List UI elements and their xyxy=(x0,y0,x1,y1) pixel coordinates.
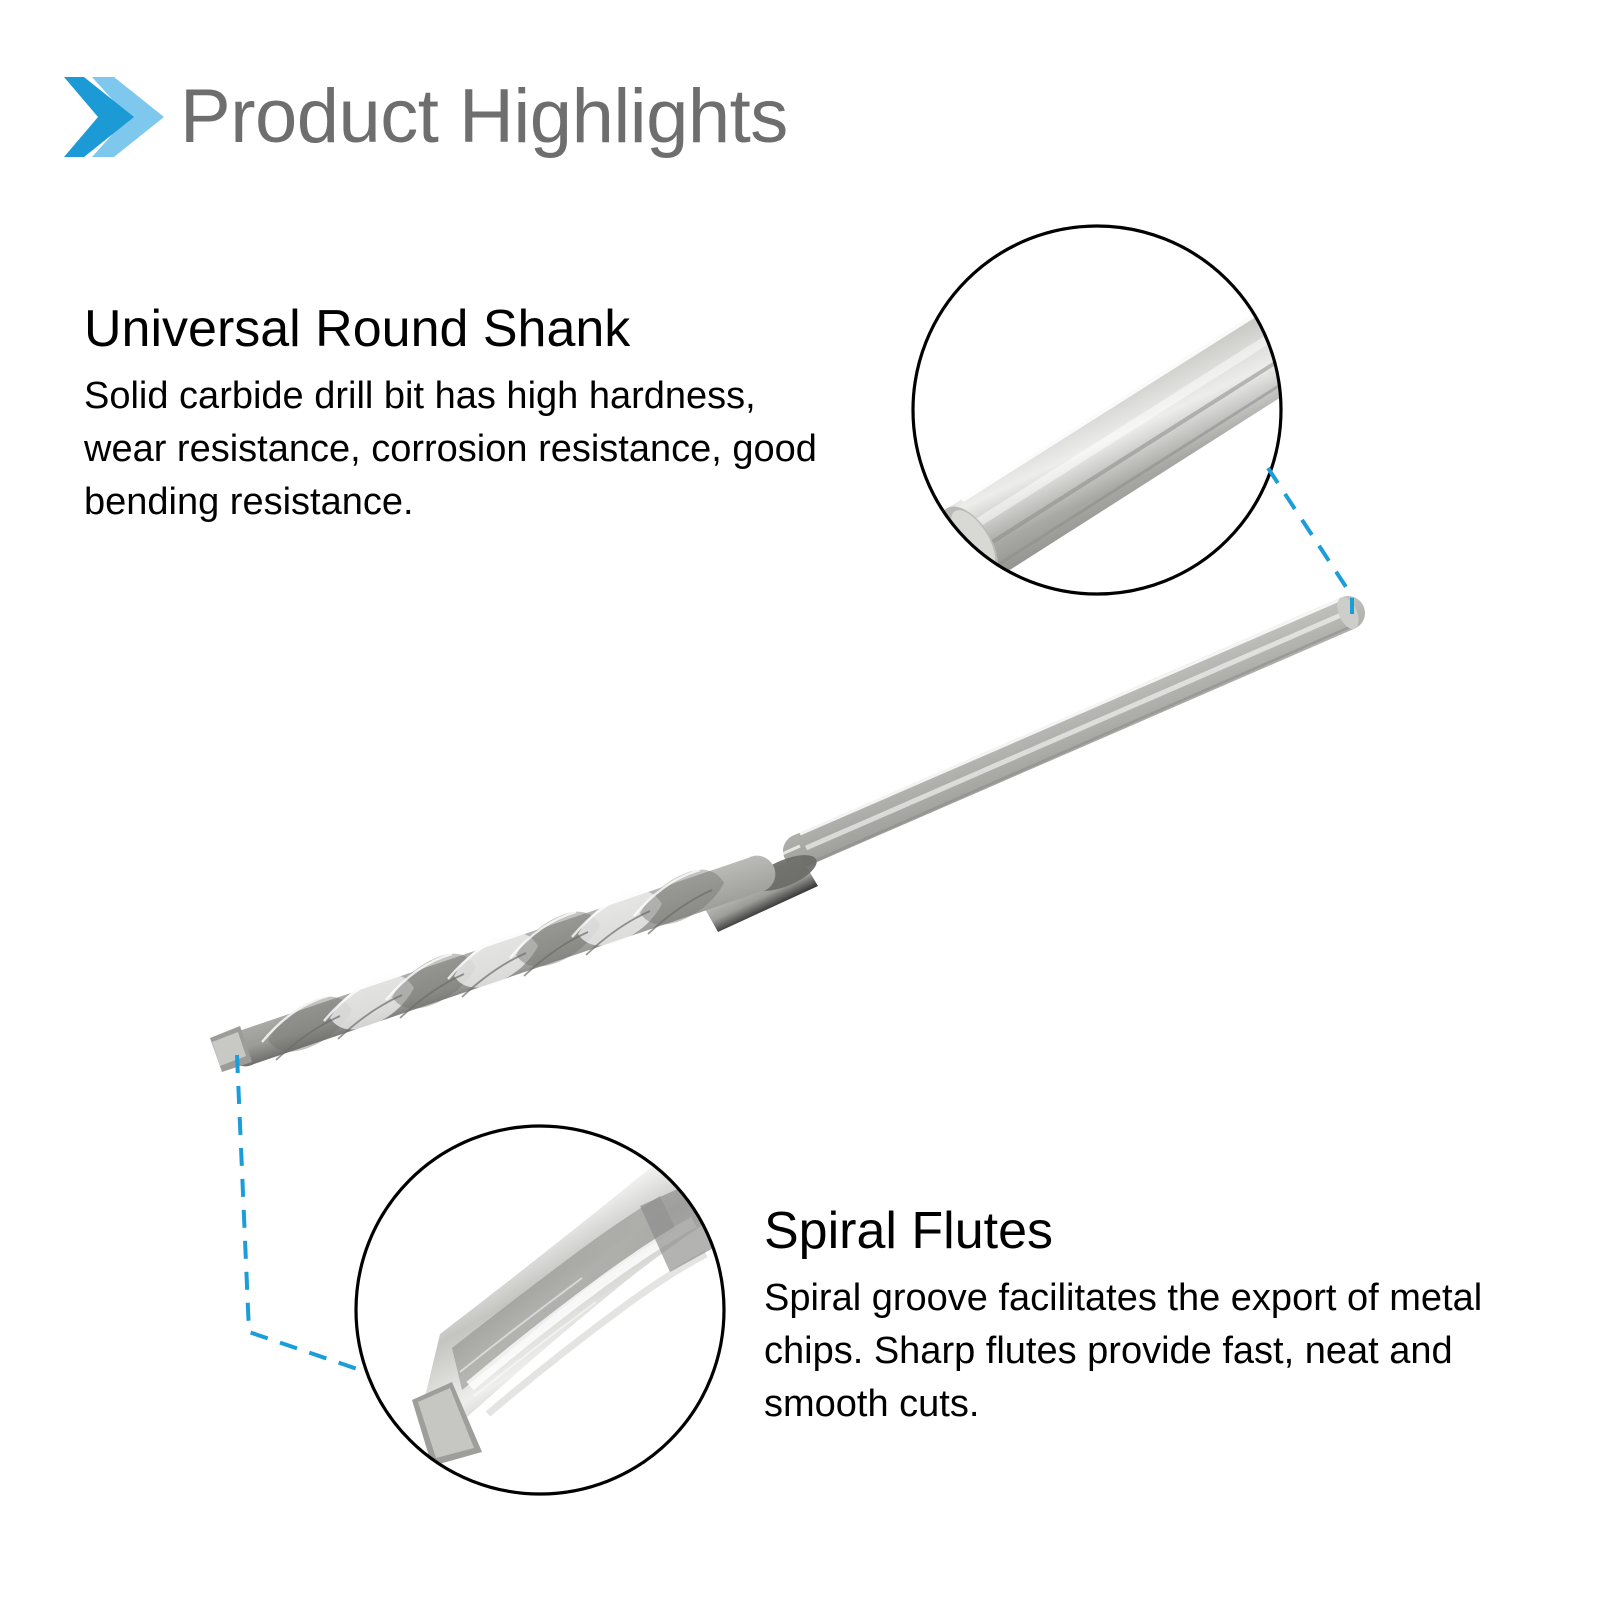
callout-flute-closeup xyxy=(350,1120,740,1510)
callout-circle-outline xyxy=(356,1126,724,1494)
callout-circle-outline xyxy=(913,226,1281,594)
leader-line-flutes xyxy=(237,1055,366,1372)
feature-body: Spiral groove facilitates the export of … xyxy=(764,1272,1504,1431)
drill-flutes xyxy=(210,856,775,1072)
callout-shank-closeup xyxy=(905,218,1356,608)
leader-line-shank xyxy=(1268,468,1352,614)
double-chevron-right-icon xyxy=(62,75,170,159)
feature-body: Solid carbide drill bit has high hardnes… xyxy=(84,370,844,529)
page-title: Product Highlights xyxy=(180,77,788,157)
drill-bit-main xyxy=(210,594,1365,1072)
feature-heading: Spiral Flutes xyxy=(764,1202,1504,1260)
product-highlights-infographic: Product Highlights Universal Round Shank… xyxy=(0,0,1600,1600)
feature-heading: Universal Round Shank xyxy=(84,300,844,358)
feature-block-universal-round-shank: Universal Round Shank Solid carbide dril… xyxy=(84,300,844,529)
drill-flute-transition xyxy=(700,846,821,932)
page-header: Product Highlights xyxy=(62,62,962,172)
drill-shank xyxy=(783,594,1365,868)
feature-block-spiral-flutes: Spiral Flutes Spiral groove facilitates … xyxy=(764,1202,1504,1431)
